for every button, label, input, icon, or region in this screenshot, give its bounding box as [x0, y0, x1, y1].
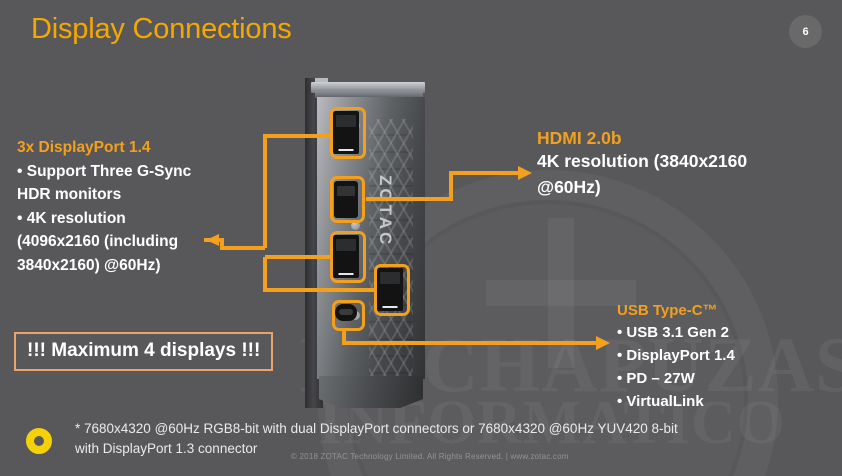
callout-displayport-heading: 3x DisplayPort 1.4	[17, 136, 191, 160]
callout-usbc-line: • DisplayPort 1.4	[617, 344, 735, 367]
callout-displayport: 3x DisplayPort 1.4 • Support Three G-Syn…	[17, 136, 191, 277]
arrowhead-displayport	[206, 234, 219, 246]
callout-usbc-line: • VirtualLink	[617, 390, 735, 413]
slide-canvas: EL CHAPUZAS INFORMATICO Display Connecti…	[0, 0, 842, 476]
callout-usbc-heading: USB Type-C™	[617, 300, 735, 321]
max-displays-note: !!! Maximum 4 displays !!!	[14, 332, 273, 371]
callout-displayport-line: (4096x2160 (including	[17, 230, 191, 254]
copyright-notice: © 2018 ZOTAC Technology Limited. All Rig…	[291, 452, 569, 461]
arrowhead-usbc	[596, 336, 610, 350]
footnote-line: * 7680x4320 @60Hz RGB8-bit with dual Dis…	[75, 419, 820, 439]
callout-displayport-line: 3840x2160) @60Hz)	[17, 254, 191, 278]
callout-usb-type-c: USB Type-C™ • USB 3.1 Gen 2 • DisplayPor…	[617, 300, 735, 413]
callout-displayport-line: • 4K resolution	[17, 207, 191, 231]
callout-hdmi-heading: HDMI 2.0b	[537, 128, 747, 148]
callout-hdmi-line: @60Hz)	[537, 174, 747, 200]
callout-usbc-line: • PD – 27W	[617, 367, 735, 390]
callout-displayport-line: HDR monitors	[17, 183, 191, 207]
arrowhead-hdmi	[518, 166, 532, 180]
callout-hdmi: HDMI 2.0b 4K resolution (3840x2160 @60Hz…	[537, 128, 747, 200]
callout-displayport-line: • Support Three G-Sync	[17, 160, 191, 184]
callout-hdmi-line: 4K resolution (3840x2160	[537, 148, 747, 174]
callout-usbc-line: • USB 3.1 Gen 2	[617, 321, 735, 344]
footnote-bullet-ring-icon	[26, 428, 52, 454]
